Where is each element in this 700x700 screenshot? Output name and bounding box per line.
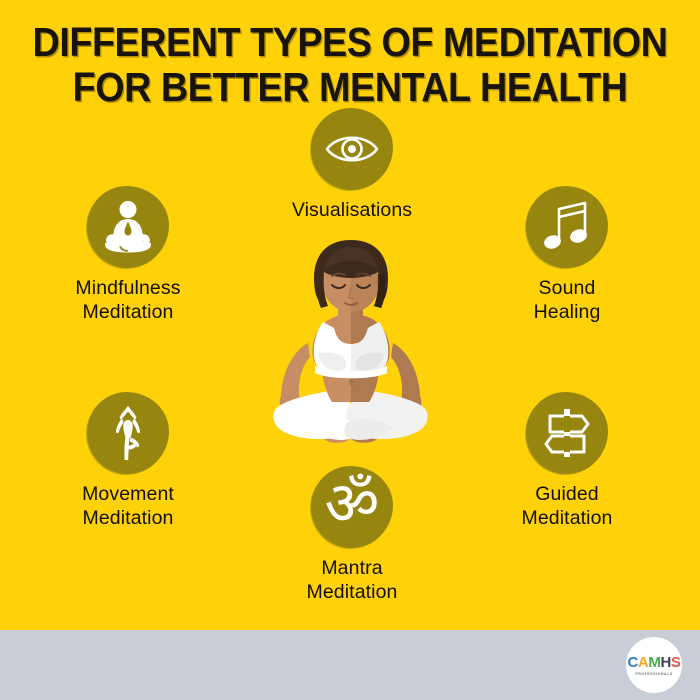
- item-mantra-meditation[interactable]: ॐ Mantra Meditation: [257, 466, 447, 605]
- badge-guided: [526, 392, 608, 474]
- logo-letter-a: A: [638, 654, 648, 671]
- item-label-movement: Movement Meditation: [33, 482, 223, 531]
- music-note-icon: [542, 201, 592, 253]
- infographic-poster: DIFFERENT TYPES OF MEDITATION FOR BETTER…: [0, 0, 700, 700]
- badge-mantra: ॐ: [311, 466, 393, 548]
- item-guided-meditation[interactable]: Guided Meditation: [472, 392, 662, 531]
- title-line-1: DIFFERENT TYPES OF MEDITATION: [28, 22, 672, 63]
- badge-sound-healing: [526, 186, 608, 268]
- badge-visualisations: [311, 108, 393, 190]
- item-sound-healing[interactable]: Sound Healing: [472, 186, 662, 325]
- camhs-logo: CAMHS PROFESSIONALS: [626, 637, 682, 693]
- meditating-woman-illustration: [248, 240, 453, 465]
- page-title: DIFFERENT TYPES OF MEDITATION FOR BETTER…: [0, 22, 700, 108]
- item-mindfulness-meditation[interactable]: Mindfulness Meditation: [33, 186, 223, 325]
- item-movement-meditation[interactable]: Movement Meditation: [33, 392, 223, 531]
- item-label-mindfulness: Mindfulness Meditation: [33, 276, 223, 325]
- signpost-icon: [540, 407, 594, 459]
- lotus-person-icon: [100, 200, 156, 254]
- item-label-visualisations: Visualisations: [257, 198, 447, 222]
- logo-letter-c: C: [627, 654, 637, 671]
- item-label-sound-healing: Sound Healing: [472, 276, 662, 325]
- item-label-guided: Guided Meditation: [472, 482, 662, 531]
- camhs-wordmark: CAMHS: [627, 655, 680, 670]
- yoga-tree-pose-icon: [105, 404, 151, 462]
- eye-icon: [324, 129, 380, 169]
- title-line-2: FOR BETTER MENTAL HEALTH: [28, 67, 672, 108]
- item-visualisations[interactable]: Visualisations: [257, 108, 447, 222]
- badge-mindfulness: [87, 186, 169, 268]
- logo-letter-s: S: [671, 654, 681, 671]
- om-symbol-icon: ॐ: [325, 474, 380, 534]
- camhs-logo-subtitle: PROFESSIONALS: [635, 672, 672, 676]
- footer-bar: CAMHS PROFESSIONALS: [0, 630, 700, 700]
- item-label-mantra: Mantra Meditation: [257, 556, 447, 605]
- logo-letter-h: H: [660, 654, 670, 671]
- logo-letter-m: M: [648, 654, 660, 671]
- badge-movement: [87, 392, 169, 474]
